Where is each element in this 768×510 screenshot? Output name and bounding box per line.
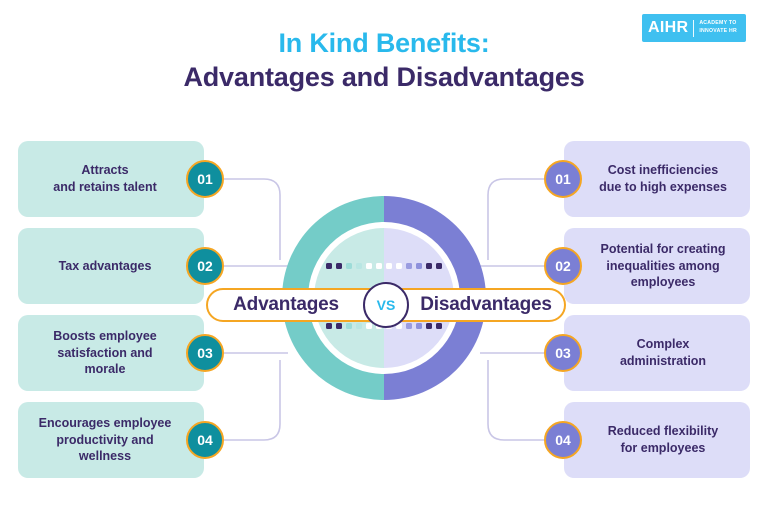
disadvantage-badge-2: 02: [544, 247, 582, 285]
advantage-badge-3: 03: [186, 334, 224, 372]
title-line-2: Advantages and Disadvantages: [0, 60, 768, 95]
disadvantage-item-2[interactable]: 02 Potential for creatinginequalities am…: [544, 228, 750, 304]
infographic-canvas: AIHR ACADEMY TO INNOVATE HR In Kind Bene…: [0, 0, 768, 510]
decorative-dot-2: [336, 323, 342, 329]
connector-right-4: [488, 360, 544, 440]
decorative-dot-3: [346, 263, 352, 269]
decorative-dot-5: [366, 263, 372, 269]
advantage-badge-2: 02: [186, 247, 224, 285]
connector-right-1: [488, 179, 544, 260]
advantage-text-4: Encourages employeeproductivity andwelln…: [18, 402, 204, 478]
decorative-dot-9: [406, 263, 412, 269]
advantage-text-1: Attractsand retains talent: [18, 141, 204, 217]
page-title: In Kind Benefits: Advantages and Disadva…: [0, 28, 768, 95]
disadvantage-item-1[interactable]: 01 Cost inefficienciesdue to high expens…: [544, 141, 750, 217]
vs-badge: VS: [363, 282, 409, 328]
decorative-dot-4: [356, 323, 362, 329]
decorative-dot-11: [426, 263, 432, 269]
advantage-item-4[interactable]: Encourages employeeproductivity andwelln…: [18, 402, 224, 478]
decorative-dot-2: [336, 263, 342, 269]
disadvantage-badge-4: 04: [544, 421, 582, 459]
advantage-item-2[interactable]: Tax advantages 02: [18, 228, 224, 304]
connector-left-4: [224, 360, 280, 440]
disadvantage-badge-3: 03: [544, 334, 582, 372]
decorative-dot-4: [356, 263, 362, 269]
decorative-dot-8: [396, 263, 402, 269]
connector-left-1: [224, 179, 280, 260]
logo-tagline-line1: ACADEMY TO: [699, 20, 736, 26]
decorative-dot-5: [366, 323, 372, 329]
decorative-dot-10: [416, 263, 422, 269]
decorative-dot-9: [406, 323, 412, 329]
advantage-text-3: Boosts employeesatisfaction andmorale: [18, 315, 204, 391]
decorative-dot-1: [326, 263, 332, 269]
disadvantage-text-4: Reduced flexibilityfor employees: [564, 402, 750, 478]
decorative-dot-6: [376, 263, 382, 269]
advantage-text-2: Tax advantages: [18, 228, 204, 304]
disadvantage-text-2: Potential for creatinginequalities among…: [564, 228, 750, 304]
disadvantages-label: Disadvantages: [411, 294, 561, 316]
dots-row-top: [282, 263, 486, 269]
disadvantage-badge-1: 01: [544, 160, 582, 198]
decorative-dot-1: [326, 323, 332, 329]
disadvantage-item-4[interactable]: 04 Reduced flexibilityfor employees: [544, 402, 750, 478]
advantages-label: Advantages: [211, 294, 361, 316]
advantage-item-3[interactable]: Boosts employeesatisfaction andmorale 03: [18, 315, 224, 391]
title-line-1: In Kind Benefits:: [0, 28, 768, 60]
decorative-dot-12: [436, 323, 442, 329]
advantage-item-1[interactable]: Attractsand retains talent 01: [18, 141, 224, 217]
advantage-badge-4: 04: [186, 421, 224, 459]
disadvantage-text-1: Cost inefficienciesdue to high expenses: [564, 141, 750, 217]
disadvantage-text-3: Complexadministration: [564, 315, 750, 391]
decorative-dot-11: [426, 323, 432, 329]
decorative-dot-3: [346, 323, 352, 329]
disadvantage-item-3[interactable]: 03 Complexadministration: [544, 315, 750, 391]
decorative-dot-10: [416, 323, 422, 329]
decorative-dot-12: [436, 263, 442, 269]
advantage-badge-1: 01: [186, 160, 224, 198]
vs-banner: Advantages VS Disadvantages: [206, 288, 566, 322]
decorative-dot-7: [386, 263, 392, 269]
